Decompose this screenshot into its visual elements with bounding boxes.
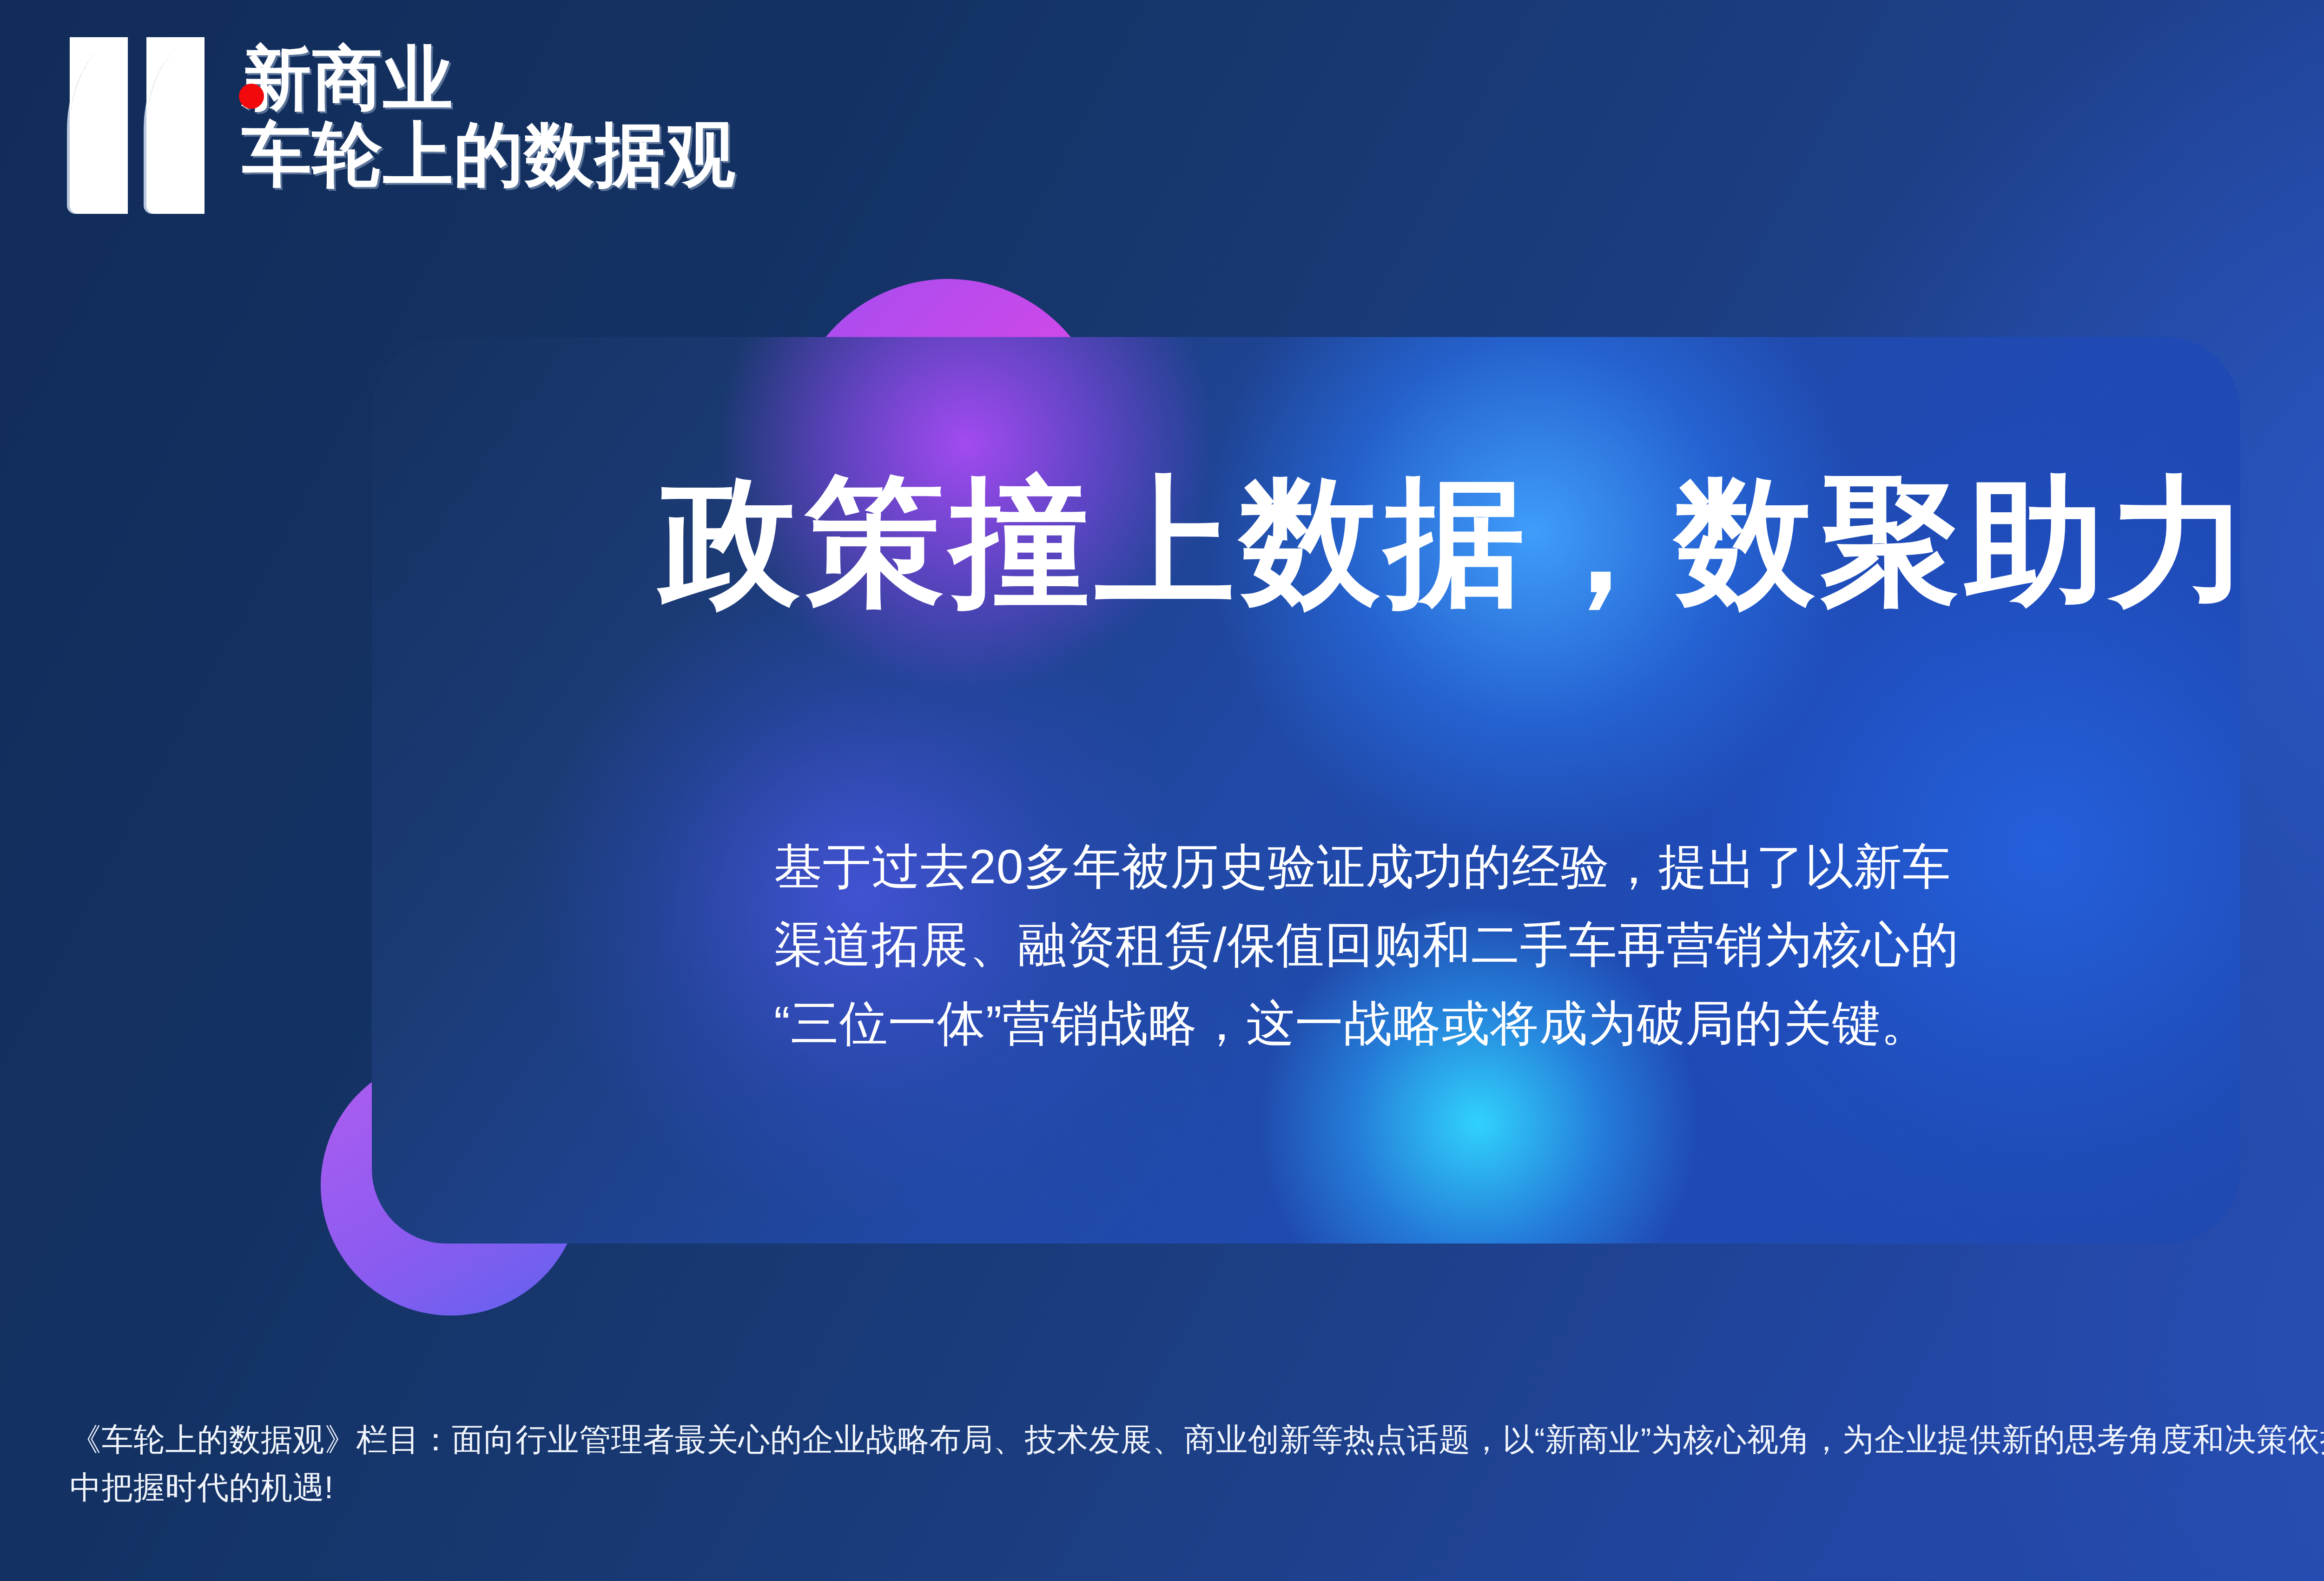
body-paragraph: 基于过去20多年被历史验证成功的经验，提出了以新车渠道拓展、融资租赁/保值回购和…	[774, 827, 1982, 1062]
quote-mark-stroke-left	[70, 37, 128, 214]
feature-card: 政策撞上数据，数聚助力解惑 基于过去20多年被历史验证成功的经验，提出了以新车渠…	[372, 337, 2240, 1244]
quote-mark-stroke-right	[146, 37, 205, 214]
brand-wordmark: 新商业 车轮上的数据观	[242, 37, 736, 193]
brand-name-secondary: 车轮上的数据观	[242, 115, 736, 193]
red-dot-accent	[239, 84, 264, 109]
footer-note: 《车轮上的数据观》栏目：面向行业管理者最关心的企业战略布局、技术发展、商业创新等…	[70, 1416, 2324, 1512]
brand-logo: 新商业 车轮上的数据观	[70, 37, 736, 214]
quote-mark-icon	[70, 37, 223, 214]
brand-name-primary-text: 新商业	[242, 39, 454, 117]
poster-canvas: 新商业 车轮上的数据观 政策撞上数据，数聚助力解惑 基于过去20多年被历史验证成…	[0, 0, 2324, 1581]
brand-name-primary: 新商业	[242, 42, 736, 115]
headline-title: 政策撞上数据，数聚助力解惑	[660, 472, 2240, 611]
